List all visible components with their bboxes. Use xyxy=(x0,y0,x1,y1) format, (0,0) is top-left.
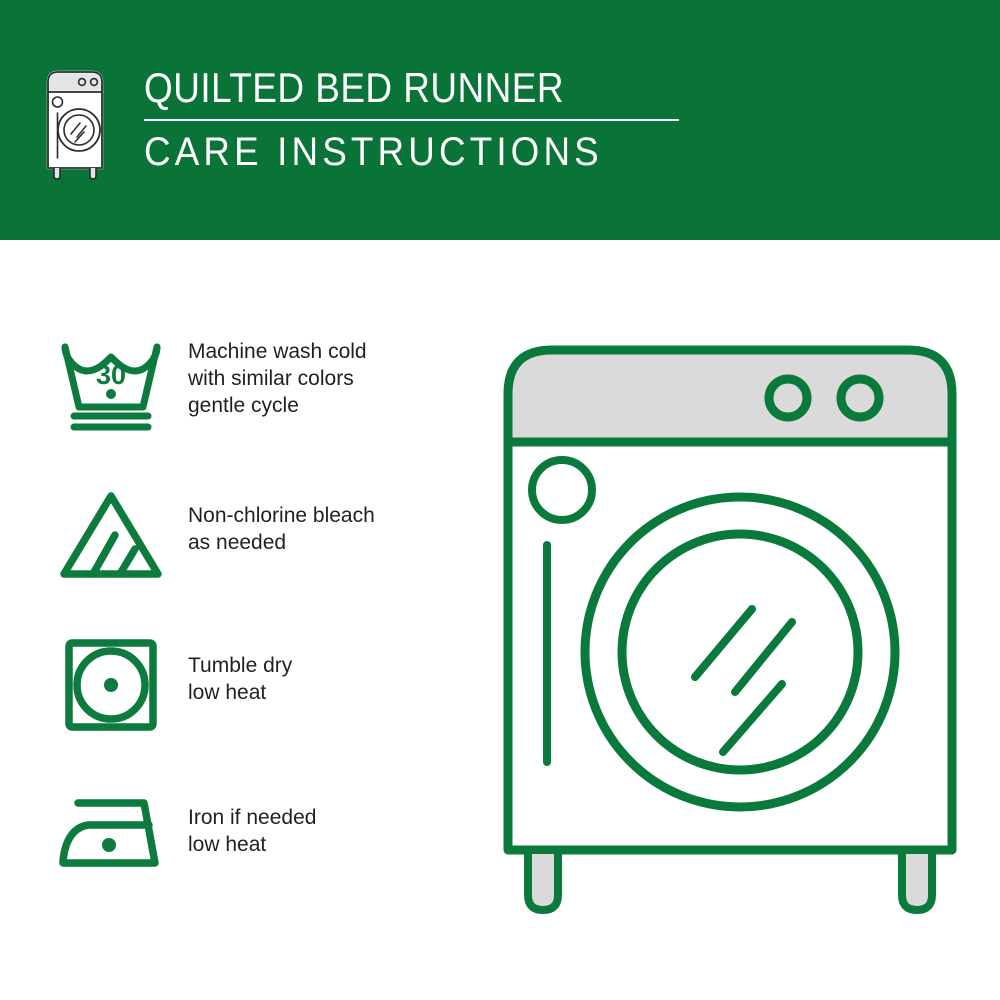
page-title: QUILTED BED RUNNER xyxy=(144,64,615,112)
care-label-line: low heat xyxy=(188,679,292,706)
control-panel-fill xyxy=(508,350,952,442)
care-label-bleach: Non-chlorine bleach as needed xyxy=(188,480,375,556)
care-label-line: Non-chlorine bleach xyxy=(188,502,375,529)
wash-tub-30-gentle-icon: 30 xyxy=(46,330,176,440)
care-row-tumble-dry: Tumble dry low heat xyxy=(46,630,466,778)
care-row-bleach: Non-chlorine bleach as needed xyxy=(46,480,466,630)
care-label-tumble-dry: Tumble dry low heat xyxy=(188,630,292,706)
care-instruction-list: 30 Machine wash cold with similar colors… xyxy=(46,330,466,918)
tumble-dry-low-heat-icon xyxy=(46,630,176,740)
wash-temperature-value: 30 xyxy=(96,360,126,390)
non-chlorine-bleach-triangle-icon xyxy=(46,480,176,590)
washing-machine-icon xyxy=(44,68,106,180)
front-load-washing-machine-illustration xyxy=(490,332,970,922)
care-label-line: Iron if needed xyxy=(188,804,316,831)
care-label-line: gentle cycle xyxy=(188,392,367,419)
care-label-line: with similar colors xyxy=(188,365,367,392)
care-label-line: as needed xyxy=(188,529,375,556)
care-row-iron: Iron if needed low heat xyxy=(46,778,466,918)
header-band: QUILTED BED RUNNER CARE INSTRUCTIONS xyxy=(0,0,1000,240)
iron-low-heat-icon xyxy=(46,778,176,888)
care-label-line: Tumble dry xyxy=(188,652,292,679)
care-label-iron: Iron if needed low heat xyxy=(188,778,316,858)
page-subtitle: CARE INSTRUCTIONS xyxy=(144,129,636,175)
care-label-line: Machine wash cold xyxy=(188,338,367,365)
care-label-machine-wash: Machine wash cold with similar colors ge… xyxy=(188,330,367,419)
header-titles: QUILTED BED RUNNER CARE INSTRUCTIONS xyxy=(144,64,679,175)
care-label-line: low heat xyxy=(188,831,316,858)
title-divider xyxy=(144,119,679,121)
care-instructions-page: QUILTED BED RUNNER CARE INSTRUCTIONS 30 xyxy=(0,0,1000,1000)
washer-leg-left xyxy=(528,850,558,910)
washer-leg-right xyxy=(902,850,932,910)
care-row-machine-wash: 30 Machine wash cold with similar colors… xyxy=(46,330,466,480)
header-content: QUILTED BED RUNNER CARE INSTRUCTIONS xyxy=(44,64,679,180)
